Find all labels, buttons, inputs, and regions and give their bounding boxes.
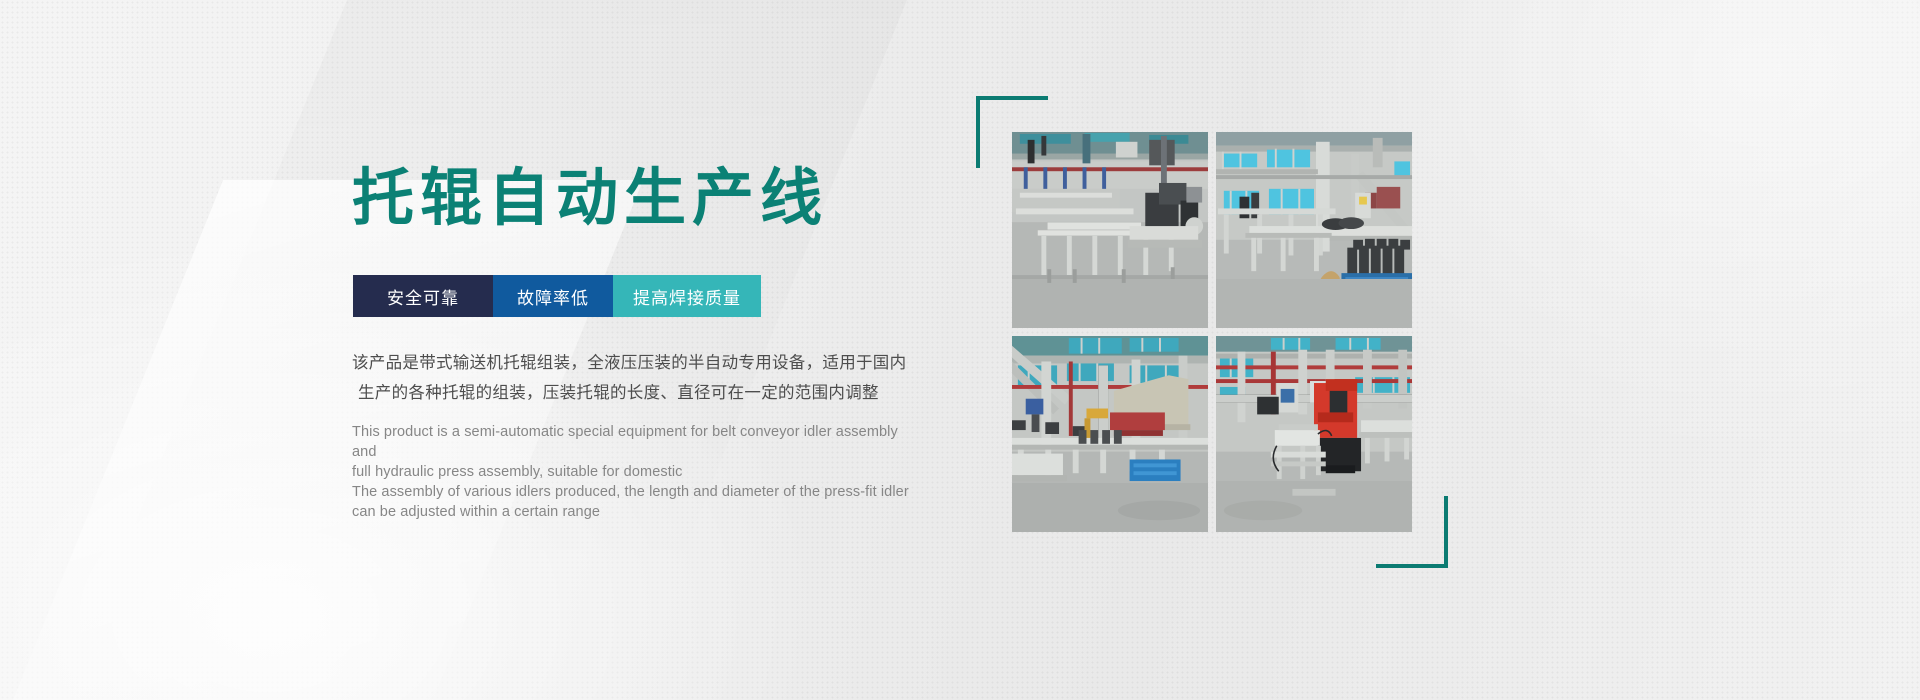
photo-red-welding-machine[interactable] — [1216, 336, 1412, 532]
description-cn-line-1: 该产品是带式输送机托辊组装，全液压压装的半自动专用设备，适用于国内 — [352, 354, 906, 372]
description-en-line-2: full hydraulic press assembly, suitable … — [352, 462, 912, 482]
feature-tag-row: 安全可靠 故障率低 提高焊接质量 — [353, 275, 761, 317]
banner-text-column: 托辊自动生产线 安全可靠 故障率低 提高焊接质量 该产品是带式输送机托辊组装，全… — [352, 0, 912, 700]
product-banner: 托辊自动生产线 安全可靠 故障率低 提高焊接质量 该产品是带式输送机托辊组装，全… — [0, 0, 1920, 700]
description-en-line-1: This product is a semi-automatic special… — [352, 422, 912, 462]
description-en-line-4: can be adjusted within a certain range — [352, 502, 912, 522]
photo-idler-stacking-area-image — [1216, 132, 1412, 328]
description-cn-line-2: 生产的各种托辊的组装，压装托辊的长度、直径可在一定的范围内调整 — [352, 378, 912, 408]
photo-idler-stacking-area[interactable] — [1216, 132, 1412, 328]
photo-grid — [1012, 132, 1412, 532]
page-title: 托辊自动生产线 — [352, 168, 828, 230]
description-english: This product is a semi-automatic special… — [352, 422, 912, 522]
tag-improve-weld-quality[interactable]: 提高焊接质量 — [613, 275, 761, 317]
photo-roller-conveyor-line[interactable] — [1012, 132, 1208, 328]
product-photo-gallery — [1012, 132, 1412, 532]
photo-press-assembly-station[interactable] — [1012, 336, 1208, 532]
background-dot-pattern — [0, 0, 1920, 700]
tag-low-failure-rate[interactable]: 故障率低 — [493, 275, 613, 317]
tag-safe-reliable[interactable]: 安全可靠 — [353, 275, 493, 317]
description-chinese: 该产品是带式输送机托辊组装，全液压压装的半自动专用设备，适用于国内 生产的各种托… — [352, 348, 912, 408]
description-en-line-3: The assembly of various idlers produced,… — [352, 482, 912, 502]
background-vignette — [0, 0, 1920, 700]
photo-roller-conveyor-line-image — [1012, 132, 1208, 328]
photo-red-welding-machine-image — [1216, 336, 1412, 532]
photo-press-assembly-station-image — [1012, 336, 1208, 532]
